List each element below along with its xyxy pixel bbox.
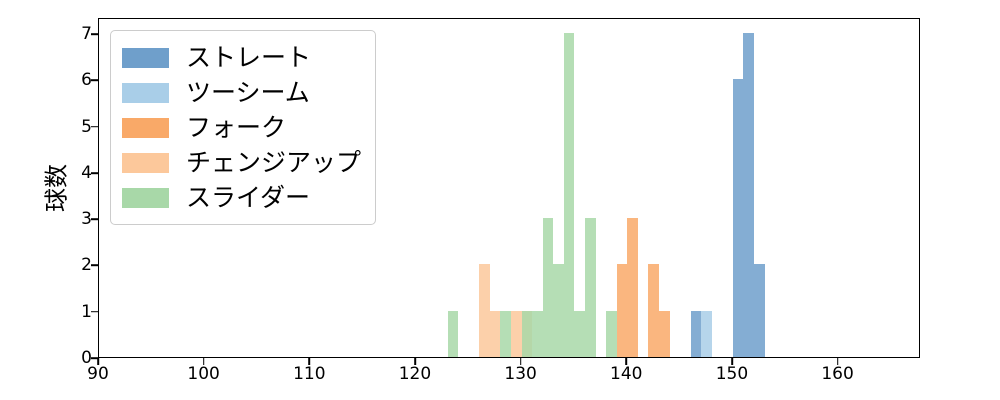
y-tick-mark-2 — [91, 265, 98, 267]
y-tick-label-0: 0 — [52, 348, 92, 368]
y-tick-mark-5 — [91, 126, 98, 128]
bar — [606, 311, 617, 357]
legend-label: スライダー — [186, 185, 310, 210]
legend-item-1[interactable]: ツーシーム — [122, 75, 361, 110]
x-tick-mark-100 — [203, 358, 205, 365]
bar — [553, 264, 564, 357]
bar — [585, 218, 596, 357]
bar — [511, 311, 522, 357]
x-tick-label-100: 100 — [187, 364, 219, 384]
x-tick-label-150: 150 — [716, 364, 748, 384]
legend-item-4[interactable]: スライダー — [122, 180, 361, 215]
y-tick-label-4: 4 — [52, 163, 92, 183]
bar — [659, 311, 670, 357]
bar — [743, 33, 754, 357]
y-tick-mark-7 — [91, 33, 98, 35]
y-tick-mark-1 — [91, 311, 98, 313]
x-tick-mark-130 — [520, 358, 522, 365]
legend-label: フォーク — [186, 115, 286, 140]
x-tick-label-160: 160 — [821, 364, 853, 384]
bar — [627, 218, 638, 357]
histogram-figure: 球数 01234567 90100110120130140150160 ストレー… — [0, 0, 1000, 400]
legend-label: ツーシーム — [186, 80, 310, 105]
x-tick-mark-110 — [309, 358, 311, 365]
legend-item-3[interactable]: チェンジアップ — [122, 145, 361, 180]
bar — [543, 218, 554, 357]
y-tick-label-2: 2 — [52, 255, 92, 275]
x-tick-label-120: 120 — [399, 364, 431, 384]
legend-swatch-icon — [122, 48, 169, 68]
x-tick-label-130: 130 — [504, 364, 536, 384]
legend-item-0[interactable]: ストレート — [122, 40, 361, 75]
legend-label: チェンジアップ — [186, 150, 361, 175]
bar — [754, 264, 765, 357]
bar — [490, 311, 501, 357]
bar — [648, 264, 659, 357]
bar — [522, 311, 533, 357]
y-tick-label-3: 3 — [52, 209, 92, 229]
y-tick-label-5: 5 — [52, 117, 92, 137]
y-tick-label-6: 6 — [52, 70, 92, 90]
x-tick-mark-140 — [625, 358, 627, 365]
bar — [479, 264, 490, 357]
bar — [691, 311, 702, 357]
legend-swatch-icon — [122, 153, 169, 173]
y-axis-label: 球数 — [37, 128, 72, 248]
bar — [564, 33, 575, 357]
legend-swatch-icon — [122, 118, 169, 138]
x-tick-mark-90 — [97, 358, 99, 365]
legend-label: ストレート — [186, 45, 311, 70]
bar — [448, 311, 459, 357]
y-tick-mark-3 — [91, 218, 98, 220]
x-tick-mark-120 — [414, 358, 416, 365]
y-tick-mark-4 — [91, 172, 98, 174]
legend-item-2[interactable]: フォーク — [122, 110, 361, 145]
y-tick-label-1: 1 — [52, 302, 92, 322]
bar — [617, 264, 628, 357]
bar — [574, 311, 585, 357]
y-tick-mark-6 — [91, 80, 98, 82]
x-tick-label-90: 90 — [87, 364, 109, 384]
x-tick-mark-160 — [837, 358, 839, 365]
legend-swatch-icon — [122, 83, 169, 103]
legend-swatch-icon — [122, 188, 169, 208]
x-tick-label-110: 110 — [293, 364, 325, 384]
bar — [532, 311, 543, 357]
chart-legend: ストレートツーシームフォークチェンジアップスライダー — [110, 30, 376, 225]
bar — [733, 79, 744, 357]
x-tick-mark-150 — [731, 358, 733, 365]
y-tick-label-7: 7 — [52, 24, 92, 44]
bar — [701, 311, 712, 357]
x-tick-label-140: 140 — [610, 364, 642, 384]
bar — [500, 311, 511, 357]
